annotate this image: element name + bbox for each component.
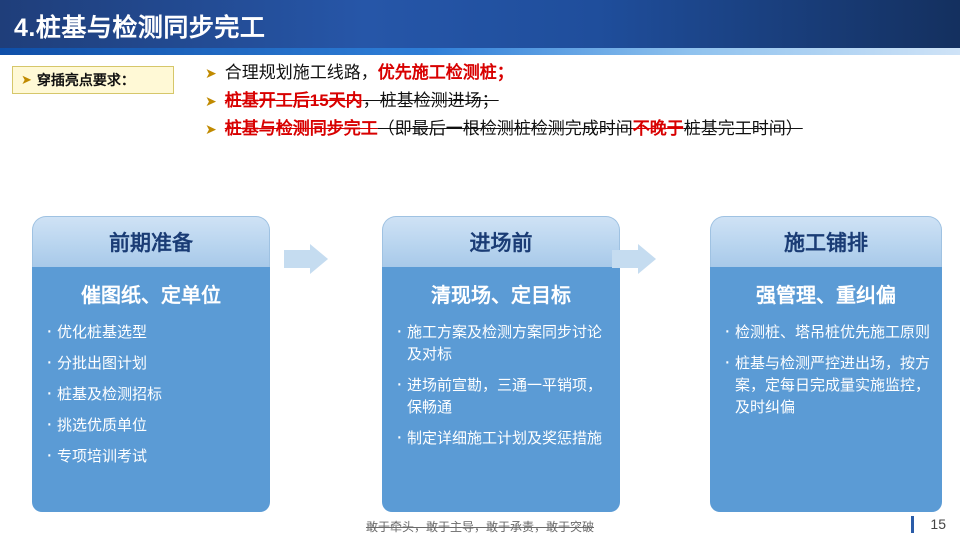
req3-red-a: 桩基与检测同步完工 xyxy=(225,119,378,138)
list-item: 挑选优质单位 xyxy=(44,415,258,437)
arrow-bar xyxy=(612,250,638,268)
stage-bullet-list-1: 优化桩基选型 分批出图计划 桩基及检测招标 挑选优质单位 专项培训考试 xyxy=(44,322,258,468)
stage-title-1: 前期准备 xyxy=(109,227,193,257)
stage-header-1: 前期准备 xyxy=(32,216,270,267)
requirement-tag-label: 穿插亮点要求： xyxy=(37,70,135,90)
stage-header-2: 进场前 xyxy=(382,216,620,267)
page-number-divider xyxy=(911,516,914,533)
triangle-right-icon: ➤ xyxy=(205,118,217,140)
req3-plain-a: （即最后一根检测桩检测完成时间 xyxy=(378,119,633,138)
stage-bullet-list-2: 施工方案及检测方案同步讨论及对标 进场前宣勘，三通一平销项，保畅通 制定详细施工… xyxy=(394,322,608,450)
stage-header-3: 施工铺排 xyxy=(710,216,942,267)
requirement-block: ➤ 穿插亮点要求： ➤ 合理规划施工线路，优先施工检测桩； ➤ 桩基开工后15天… xyxy=(0,62,960,162)
stage-body-2: 清现场、定目标 施工方案及检测方案同步讨论及对标 进场前宣勘，三通一平销项，保畅… xyxy=(382,267,620,512)
req3-plain-c: 桩基完工时间） xyxy=(684,119,803,138)
stage-column-2: 进场前 清现场、定目标 施工方案及检测方案同步讨论及对标 进场前宣勘，三通一平销… xyxy=(382,216,620,512)
triangle-right-icon: ➤ xyxy=(205,90,217,112)
requirement-lines: ➤ 合理规划施工线路，优先施工检测桩； ➤ 桩基开工后15天内，桩基检测进场； … xyxy=(205,62,803,146)
req2-plain: ，桩基检测进场； xyxy=(363,91,499,110)
page-title: 4.桩基与检测同步完工 xyxy=(14,8,265,44)
stage-bullet-list-3: 检测桩、塔吊桩优先施工原则 桩基与检测严控进出场，按方案，定每日完成量实施监控，… xyxy=(722,322,930,419)
list-item: 制定详细施工计划及奖惩措施 xyxy=(394,428,608,450)
requirement-line-2: ➤ 桩基开工后15天内，桩基检测进场； xyxy=(205,90,803,112)
arrow-tip xyxy=(310,244,328,274)
requirement-line-1: ➤ 合理规划施工线路，优先施工检测桩； xyxy=(205,62,803,84)
stage-body-1: 催图纸、定单位 优化桩基选型 分批出图计划 桩基及检测招标 挑选优质单位 专项培… xyxy=(32,267,270,512)
stage-title-3: 施工铺排 xyxy=(784,227,868,257)
list-item: 施工方案及检测方案同步讨论及对标 xyxy=(394,322,608,366)
list-item: 分批出图计划 xyxy=(44,353,258,375)
slide-header: 4.桩基与检测同步完工 xyxy=(0,0,960,48)
req1-red: 优先施工检测桩； xyxy=(378,63,514,82)
arrow-tip xyxy=(638,244,656,274)
requirement-line-3: ➤ 桩基与检测同步完工（即最后一根检测桩检测完成时间不晚于桩基完工时间） xyxy=(205,118,803,140)
list-item: 进场前宣勘，三通一平销项，保畅通 xyxy=(394,375,608,419)
header-accent-stripe xyxy=(0,48,960,55)
list-item: 检测桩、塔吊桩优先施工原则 xyxy=(722,322,930,344)
stage-column-1: 前期准备 催图纸、定单位 优化桩基选型 分批出图计划 桩基及检测招标 挑选优质单… xyxy=(32,216,270,512)
triangle-right-icon: ➤ xyxy=(21,72,32,88)
stage-subtitle-1: 催图纸、定单位 xyxy=(44,279,258,308)
page-number: 15 xyxy=(930,516,946,532)
flow-arrow-right-icon xyxy=(612,244,656,274)
stage-subtitle-2: 清现场、定目标 xyxy=(394,279,608,308)
stage-title-2: 进场前 xyxy=(470,227,533,257)
flow-arrow-right-icon xyxy=(284,244,328,274)
footer-note: 敢于牵头，敢于主导，敢于承责，敢于突破 xyxy=(330,518,630,535)
list-item: 桩基及检测招标 xyxy=(44,384,258,406)
list-item: 优化桩基选型 xyxy=(44,322,258,344)
list-item: 桩基与检测严控进出场，按方案，定每日完成量实施监控，及时纠偏 xyxy=(722,353,930,419)
stage-body-3: 强管理、重纠偏 检测桩、塔吊桩优先施工原则 桩基与检测严控进出场，按方案，定每日… xyxy=(710,267,942,512)
req2-red: 桩基开工后15天内 xyxy=(225,91,363,110)
triangle-right-icon: ➤ xyxy=(205,62,217,84)
requirement-tag: ➤ 穿插亮点要求： xyxy=(12,66,174,94)
list-item: 专项培训考试 xyxy=(44,446,258,468)
stage-subtitle-3: 强管理、重纠偏 xyxy=(722,279,930,308)
req1-plain: 合理规划施工线路， xyxy=(225,63,378,82)
arrow-bar xyxy=(284,250,310,268)
stage-column-3: 施工铺排 强管理、重纠偏 检测桩、塔吊桩优先施工原则 桩基与检测严控进出场，按方… xyxy=(710,216,942,512)
req3-red-b: 不晚于 xyxy=(633,119,684,138)
